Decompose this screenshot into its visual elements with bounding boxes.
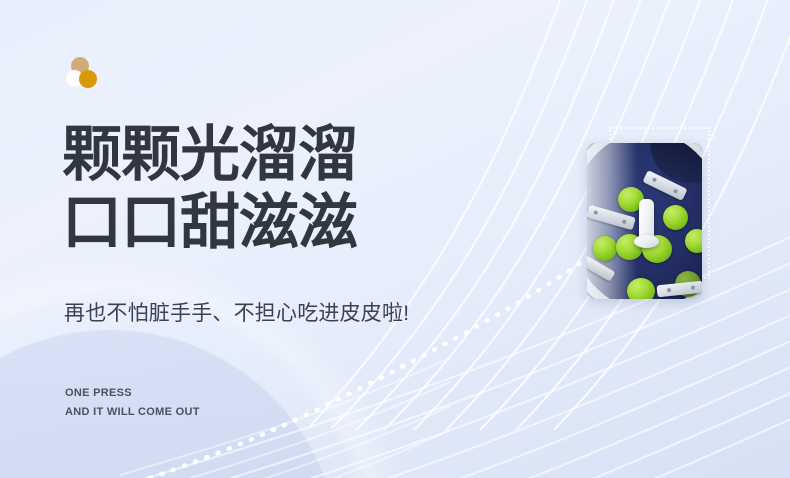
screw-icon	[652, 177, 657, 182]
screw-icon	[622, 219, 627, 224]
promo-banner: 颗颗光溜溜 口口甜滋滋 再也不怕脏手手、不担心吃进皮皮啦! ONE PRESS …	[0, 0, 790, 478]
subheadline: 再也不怕脏手手、不担心吃进皮皮啦!	[64, 299, 409, 329]
grape	[627, 278, 655, 299]
headline-line-1: 颗颗光溜溜	[62, 121, 492, 189]
screw-icon	[593, 210, 598, 215]
product-photo[interactable]	[587, 143, 702, 299]
english-tagline: ONE PRESS AND IT WILL COME OUT	[65, 384, 200, 422]
headline-line-2: 口口甜滋滋	[62, 189, 492, 257]
product-photo-inner	[587, 143, 702, 299]
screw-icon	[673, 189, 678, 194]
english-tagline-line-1: ONE PRESS	[65, 384, 200, 403]
english-tagline-line-2: AND IT WILL COME OUT	[65, 403, 200, 422]
grape	[685, 229, 702, 253]
brand-logo	[66, 57, 102, 91]
screw-icon	[667, 288, 671, 292]
headline: 颗颗光溜溜 口口甜滋滋	[62, 121, 492, 257]
gold-circle-icon	[79, 70, 97, 88]
white-plunger-base	[634, 235, 659, 248]
grape	[663, 205, 688, 230]
screw-icon	[691, 285, 695, 289]
grape	[593, 236, 617, 261]
